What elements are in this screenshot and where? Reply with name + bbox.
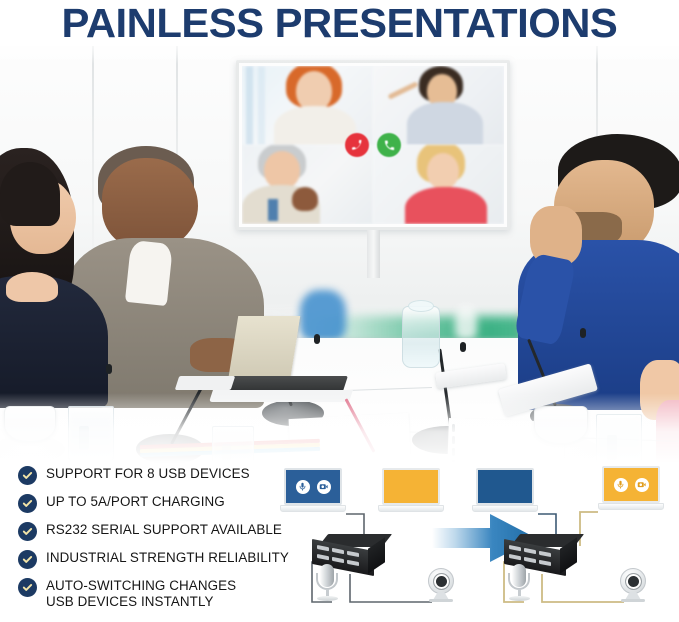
phone-down-icon: [352, 140, 363, 151]
laptop-screen: [284, 468, 342, 505]
check-circle-icon: [18, 494, 37, 513]
microphone-icon: [296, 480, 310, 494]
list-item: AUTO-SWITCHING CHANGES USB DEVICES INSTA…: [18, 578, 308, 610]
background-blur-object: [455, 306, 477, 340]
paper-sheet: [11, 461, 132, 463]
saucer: [520, 436, 598, 463]
feature-label: UP TO 5A/PORT CHARGING: [46, 494, 225, 510]
wall-mounted-tv: [236, 60, 510, 230]
tv-screen: [242, 66, 504, 224]
title-bar: PAINLESS PRESENTATIONS: [0, 0, 679, 46]
water-glass: [68, 406, 114, 462]
promo-image: PAINLESS PRESENTATIONS: [0, 0, 679, 622]
feature-label: INDUSTRIAL STRENGTH RELIABILITY: [46, 550, 289, 566]
open-laptop: [205, 316, 365, 400]
saucer: [0, 436, 64, 462]
feature-list: SUPPORT FOR 8 USB DEVICES UP TO 5A/PORT …: [18, 466, 308, 610]
laptop-screen: [602, 466, 660, 503]
decline-call-button[interactable]: [345, 133, 369, 157]
person-woman-left: [0, 148, 122, 398]
laptop-base: [472, 505, 538, 512]
tv-stand-post: [367, 230, 380, 278]
microphone-icon: [614, 478, 628, 492]
check-circle-icon: [18, 522, 37, 541]
water-glass: [596, 414, 642, 463]
list-item: RS232 SERIAL SUPPORT AVAILABLE: [18, 522, 308, 541]
camera-icon: [635, 478, 649, 492]
feature-label: AUTO-SWITCHING CHANGES USB DEVICES INSTA…: [46, 578, 236, 610]
laptop-screen: [382, 468, 440, 505]
phone-icon: [384, 140, 395, 151]
laptop-orange-inactive[interactable]: [378, 468, 444, 514]
list-item: INDUSTRIAL STRENGTH RELIABILITY: [18, 550, 308, 569]
check-circle-icon: [18, 550, 37, 569]
paper-sheet: [289, 413, 412, 463]
water-glass: [212, 426, 254, 463]
laptop-base: [378, 505, 444, 512]
usb-switch-diagram: [288, 462, 679, 622]
desktop-microphone: [506, 564, 532, 602]
laptop-screen: [476, 468, 534, 505]
check-circle-icon: [18, 578, 37, 597]
spiral-binding: [452, 422, 464, 463]
laptop-base: [598, 503, 664, 510]
laptop-base: [280, 505, 346, 512]
usb-webcam: [424, 568, 458, 602]
feature-label: RS232 SERIAL SUPPORT AVAILABLE: [46, 522, 282, 538]
conference-room-photo: [0, 38, 679, 463]
page-title: PAINLESS PRESENTATIONS: [62, 0, 618, 47]
list-item: SUPPORT FOR 8 USB DEVICES: [18, 466, 308, 485]
table-seam: [400, 431, 679, 442]
video-tile-bottom-right: [373, 145, 504, 224]
check-circle-icon: [18, 466, 37, 485]
water-carafe: [402, 306, 440, 368]
laptop-blue-active[interactable]: [280, 468, 346, 514]
usb-webcam: [616, 568, 650, 602]
accept-call-button[interactable]: [377, 133, 401, 157]
carafe-lip: [408, 300, 434, 312]
desktop-microphone: [314, 564, 340, 602]
list-item: UP TO 5A/PORT CHARGING: [18, 494, 308, 513]
notepad: [447, 418, 565, 463]
coffee-cup: [534, 406, 588, 444]
video-tile-bottom-left: [242, 145, 373, 224]
book-stack: [140, 439, 320, 459]
coffee-cup: [4, 406, 56, 442]
pen: [345, 398, 376, 452]
feature-label: SUPPORT FOR 8 USB DEVICES: [46, 466, 250, 482]
laptop-blue-inactive[interactable]: [472, 468, 538, 514]
laptop-orange-active[interactable]: [598, 466, 664, 512]
camera-icon: [317, 480, 331, 494]
